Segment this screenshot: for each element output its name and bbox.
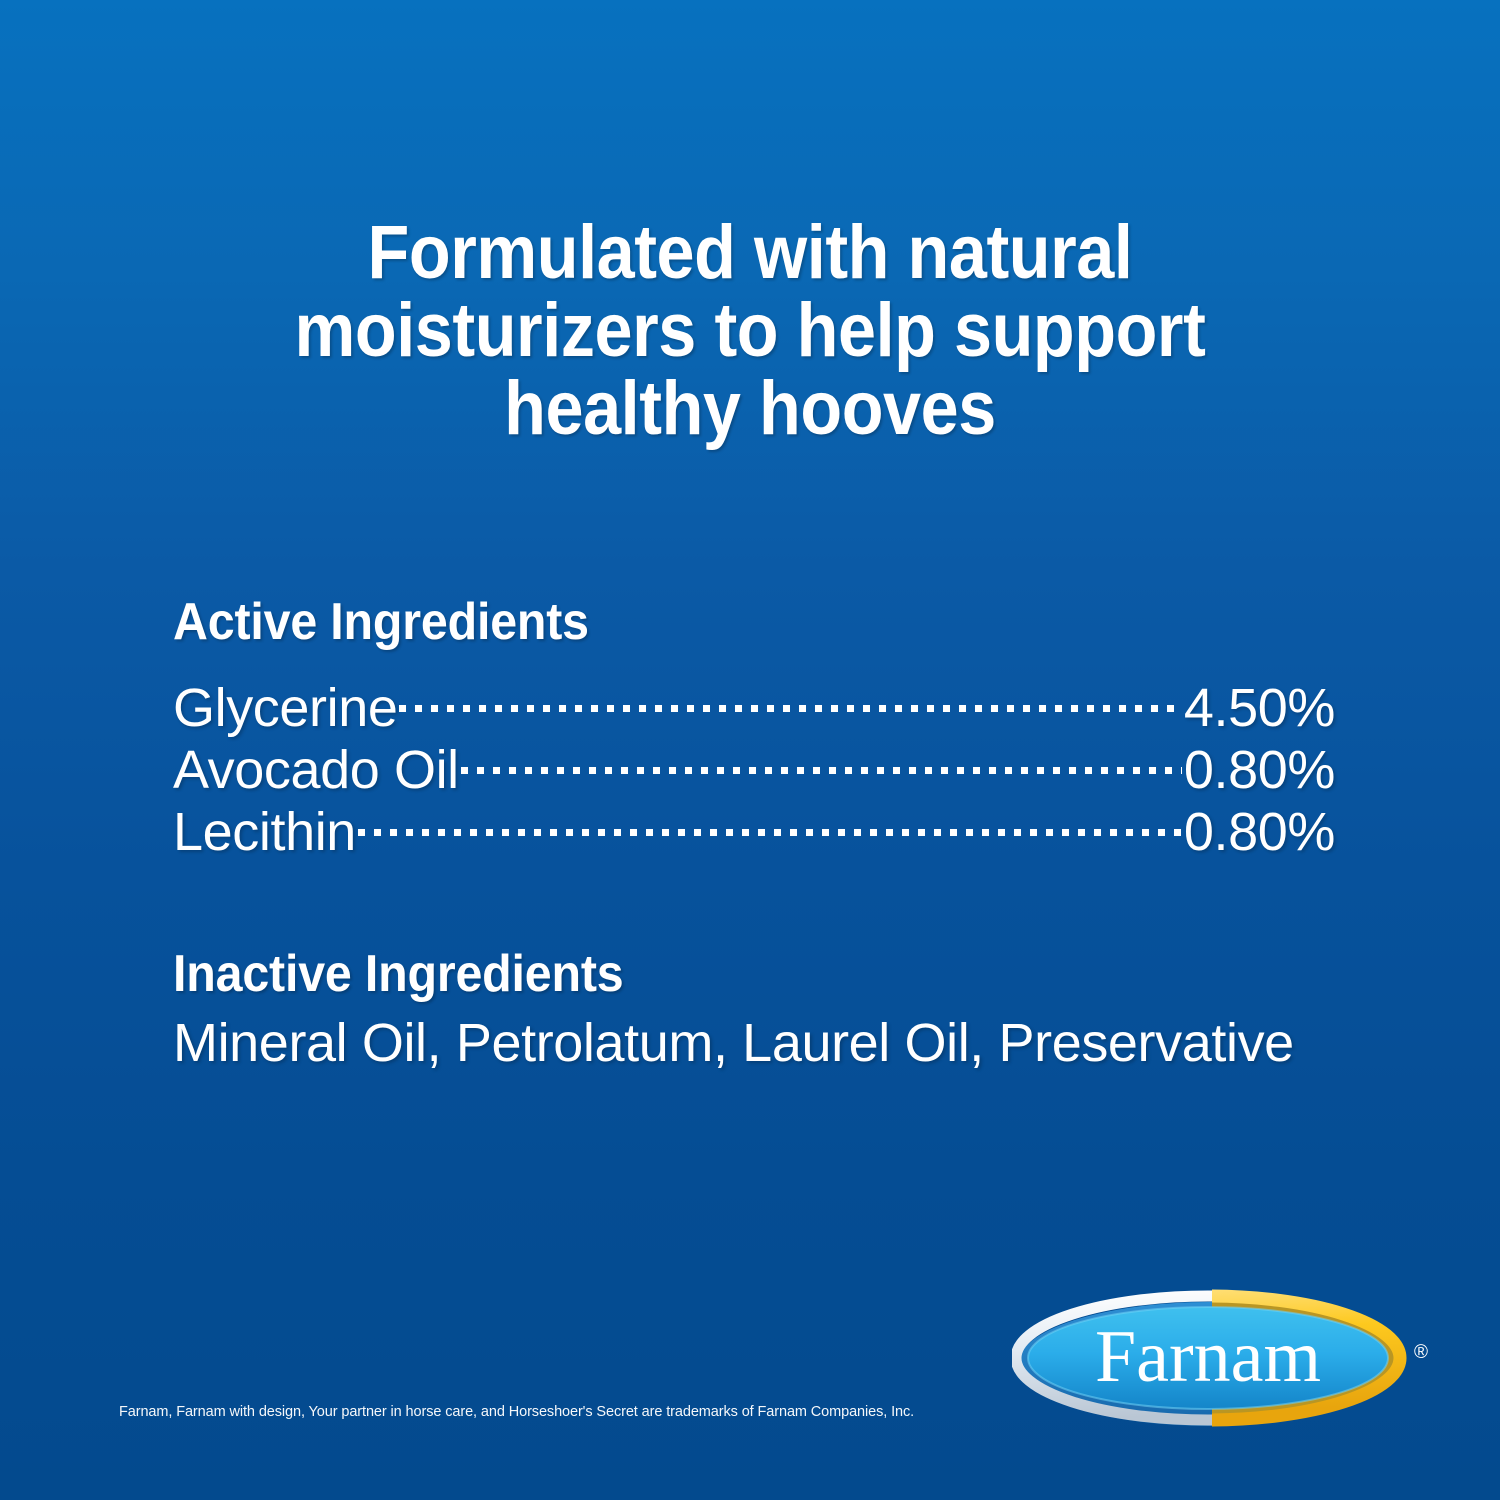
- active-ingredients-heading: Active Ingredients: [173, 596, 589, 648]
- dot-leader: [399, 664, 1181, 726]
- ingredient-name: Glycerine: [173, 677, 397, 739]
- page-title: Formulated with natural moisturizers to …: [75, 214, 1425, 448]
- logo-wordmark: Farnam: [1095, 1316, 1321, 1398]
- trademark-legal-line: Farnam, Farnam with design, Your partner…: [119, 1403, 914, 1421]
- ingredient-value: 0.80%: [1184, 739, 1335, 801]
- ingredient-row: Glycerine 4.50%: [173, 664, 1335, 726]
- ingredient-value: 4.50%: [1184, 677, 1335, 739]
- inactive-ingredients-text: Mineral Oil, Petrolatum, Laurel Oil, Pre…: [173, 1012, 1294, 1074]
- registered-trademark-icon: ®: [1410, 1342, 1432, 1364]
- dot-leader: [358, 788, 1182, 850]
- dot-leader: [461, 726, 1182, 788]
- farnam-logo: Farnam ®: [1012, 1282, 1432, 1432]
- inactive-ingredients-heading: Inactive Ingredients: [173, 948, 623, 1000]
- ingredient-value: 0.80%: [1184, 801, 1335, 863]
- active-ingredients-list: Glycerine 4.50% Avocado Oil 0.80% Lecith…: [173, 664, 1335, 850]
- ingredient-name: Lecithin: [173, 801, 356, 863]
- product-info-panel: Formulated with natural moisturizers to …: [0, 0, 1500, 1500]
